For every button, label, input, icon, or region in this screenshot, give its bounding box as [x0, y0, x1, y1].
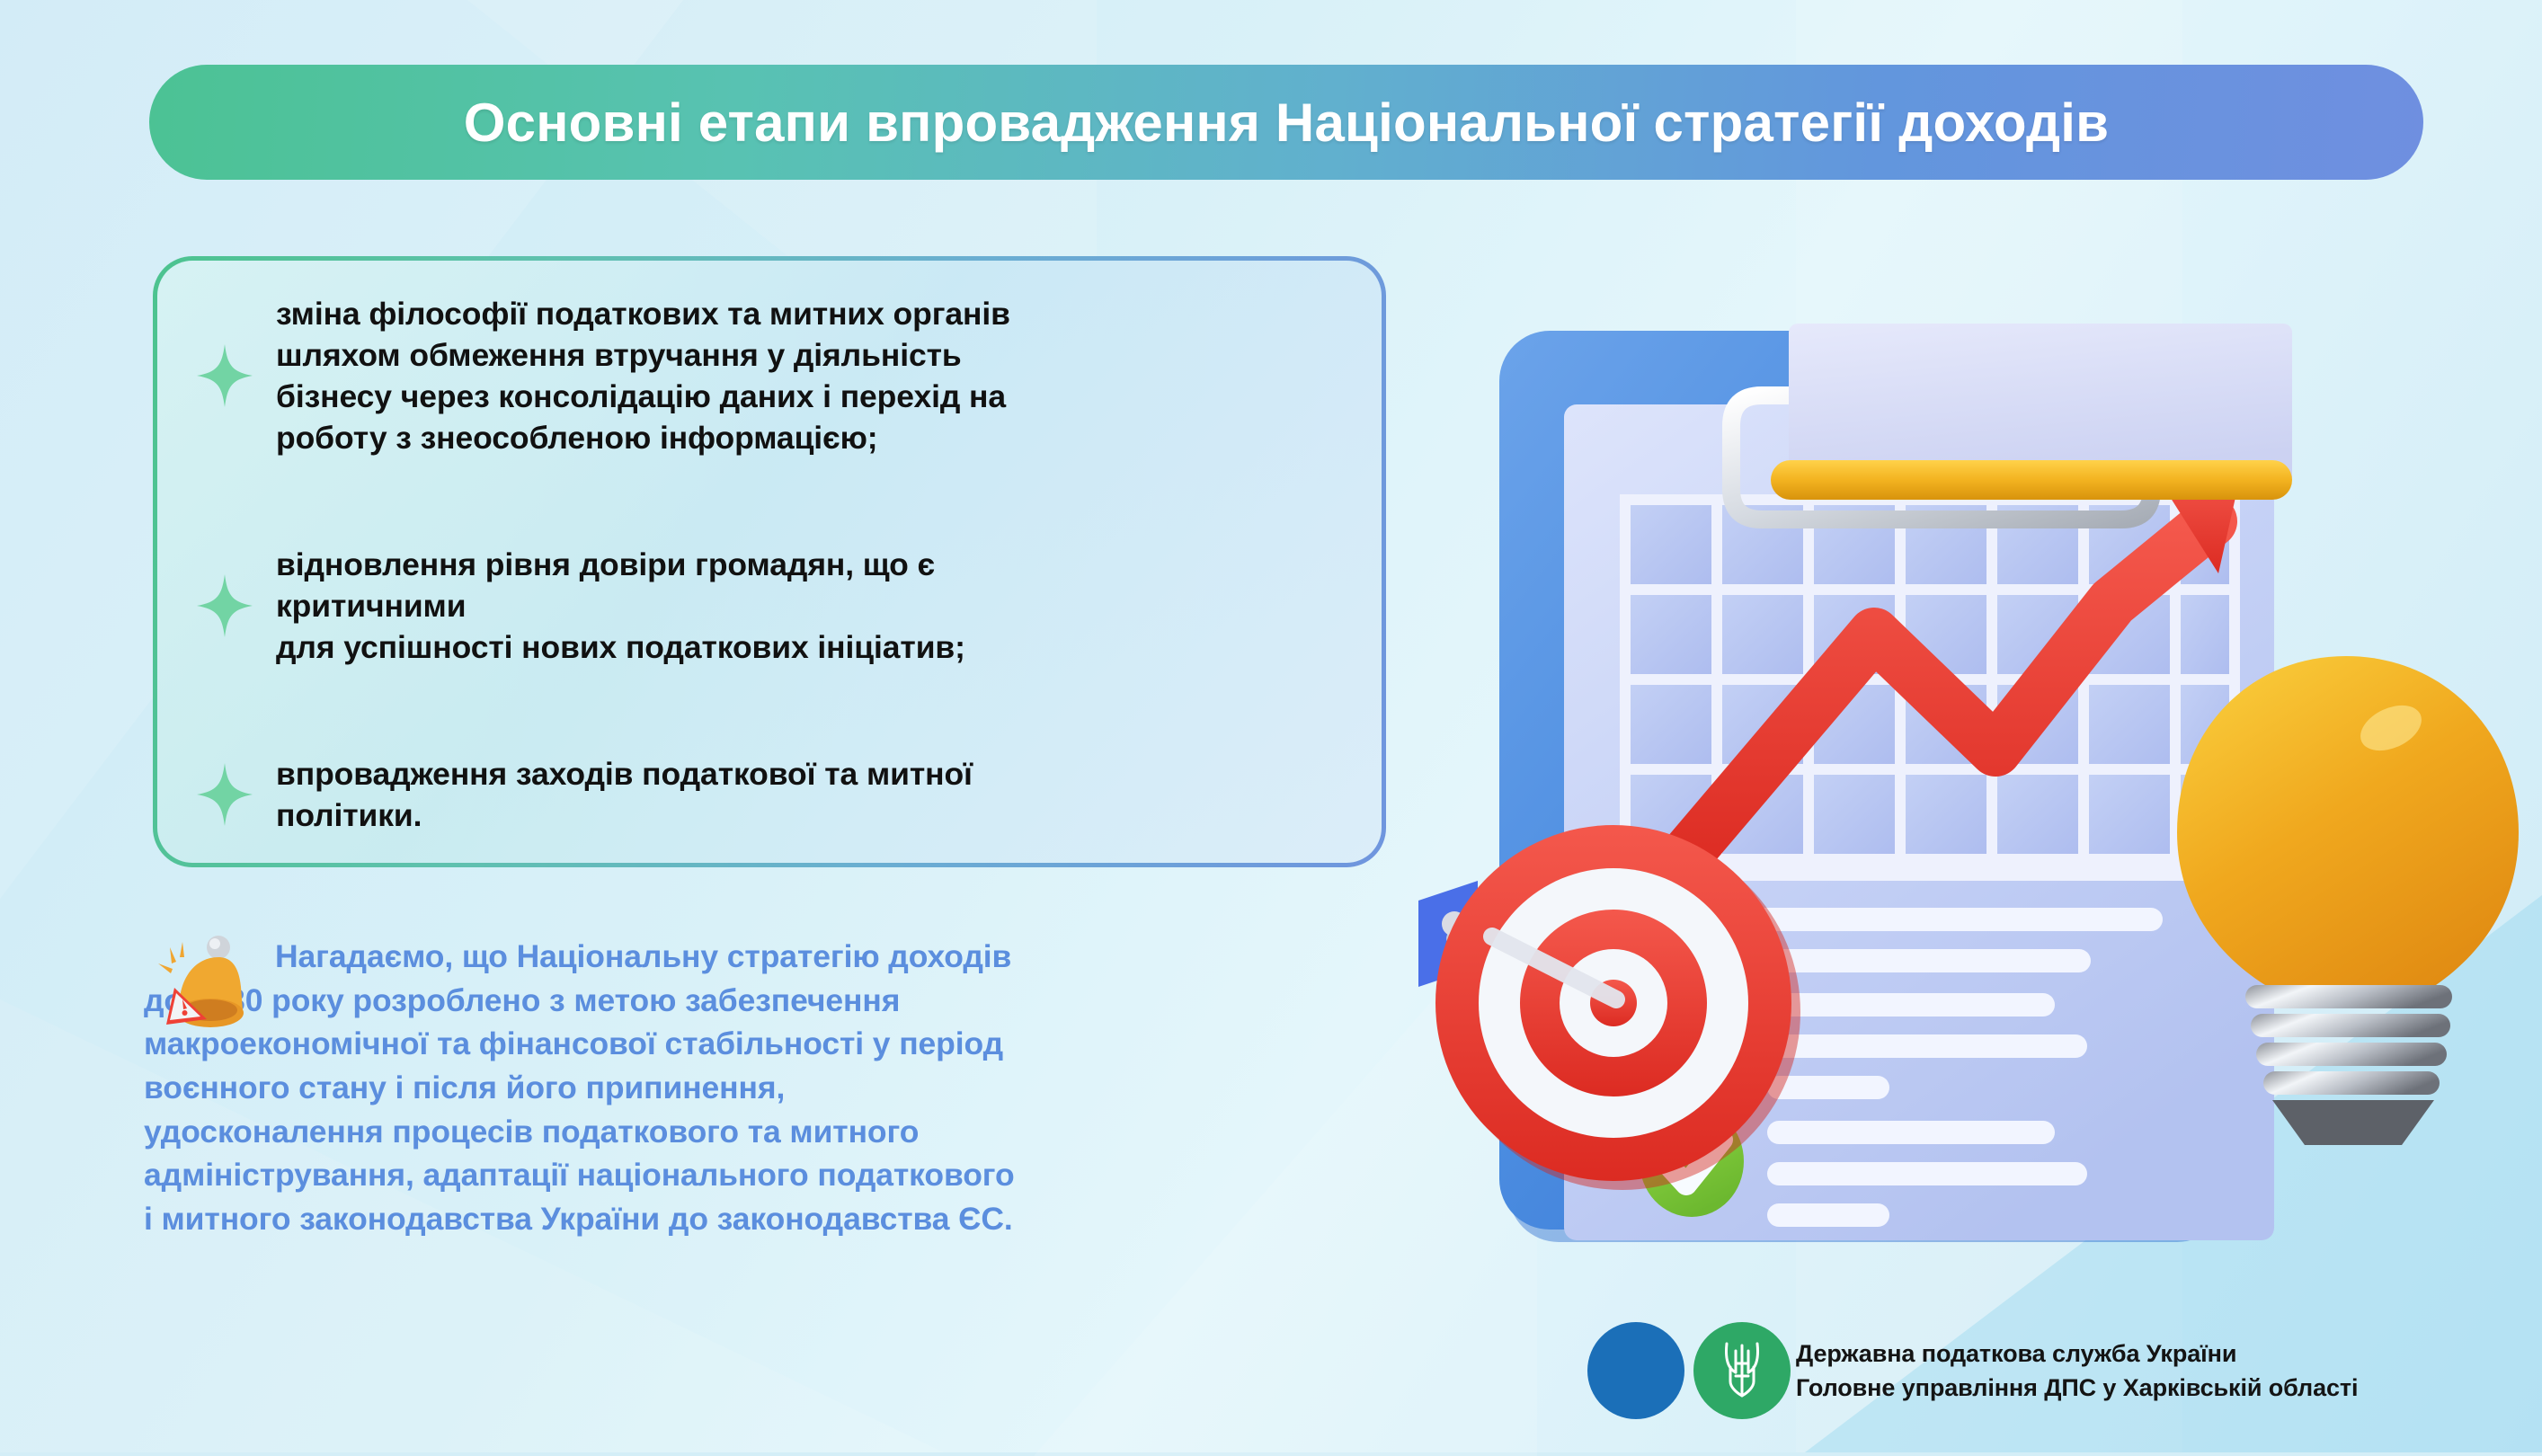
page-title-banner: Основні етапи впровадження Національної …: [149, 65, 2423, 180]
footer-line-2: Головне управління ДПС у Харківській обл…: [1796, 1374, 2358, 1402]
footer-logo: Державна податкова служба України Головн…: [1587, 1319, 2358, 1423]
yellow-pencil-bar: [1771, 460, 2292, 500]
sparkle-icon: [197, 574, 253, 637]
list-item: впровадження заходів податкової та митно…: [197, 753, 1346, 836]
logo-blue-circle: [1587, 1322, 1684, 1419]
bullet-text-1: зміна філософії податкових та митних орг…: [276, 293, 1010, 459]
list-item: зміна філософії податкових та митних орг…: [197, 293, 1346, 459]
bullets-card: зміна філософії податкових та митних орг…: [153, 256, 1386, 867]
list-item: відновлення рівня довіри громадян, що є …: [197, 544, 1346, 668]
ukraine-trident-icon: [1718, 1336, 1766, 1406]
footer-line-1: Державна податкова служба України: [1796, 1340, 2358, 1368]
sparkle-icon: [197, 763, 253, 826]
bullet-text-3: впровадження заходів податкової та митно…: [276, 753, 973, 836]
footer-text: Державна податкова служба України Головн…: [1796, 1340, 2358, 1402]
logo-green-circle: [1693, 1322, 1791, 1419]
sparkle-icon: [197, 344, 253, 407]
bell-with-warning-icon: [142, 928, 259, 1044]
reminder-note-text: Нагадаємо, що Національну стратегію дохо…: [135, 935, 1537, 1240]
bullet-text-2: відновлення рівня довіри громадян, що є …: [276, 544, 965, 668]
page-title: Основні етапи впровадження Національної …: [464, 92, 2109, 154]
logo-marks: [1587, 1319, 1776, 1423]
bulb-screw-base: [2245, 985, 2452, 1145]
reminder-note: Нагадаємо, що Національну стратегію дохо…: [135, 935, 1537, 1240]
clipboard-chart-target-lightbulb-illustration: [1402, 225, 2526, 1285]
